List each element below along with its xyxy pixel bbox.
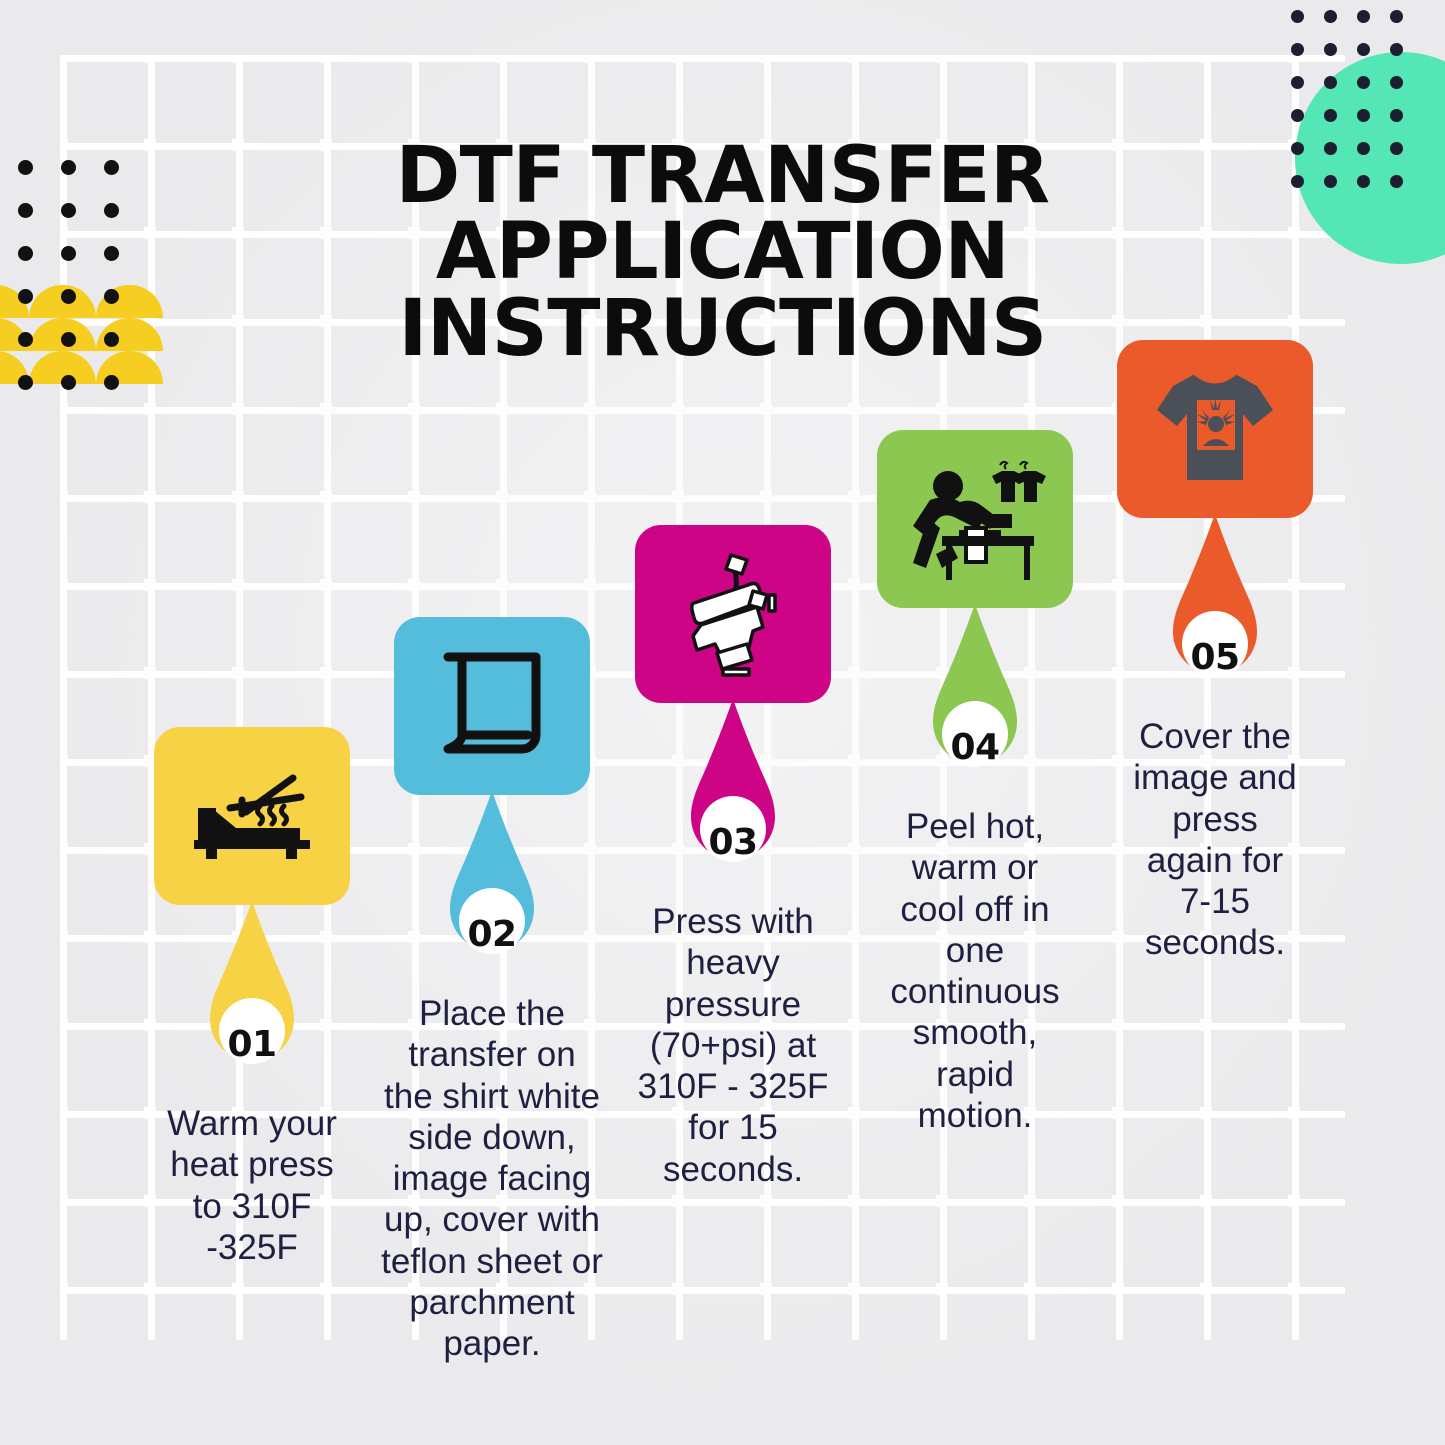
step-item-05[interactable]: 05 Cover the image and press again for 7… bbox=[1085, 340, 1345, 964]
step-item-03[interactable]: 03 Press with heavy pressure (70+psi) at… bbox=[603, 525, 863, 1190]
printed-tshirt-icon bbox=[1151, 368, 1279, 490]
infographic-canvas: DTF TRANSFER APPLICATION INSTRUCTIONS bbox=[0, 0, 1445, 1445]
page-title-line-1: DTF TRANSFER APPLICATION bbox=[395, 131, 1049, 297]
step-02-tile[interactable] bbox=[394, 617, 590, 795]
page-title: DTF TRANSFER APPLICATION INSTRUCTIONS bbox=[0, 138, 1445, 367]
step-03-tile[interactable] bbox=[635, 525, 831, 703]
step-02-caption: Place the transfer on the shirt white si… bbox=[367, 993, 617, 1365]
step-01-number: 01 bbox=[194, 1024, 310, 1065]
step-03-number-pin: 03 bbox=[675, 699, 791, 889]
step-04-caption: Peel hot, warm or cool off in one contin… bbox=[850, 806, 1100, 1136]
peeling-worker-icon bbox=[904, 456, 1046, 582]
heat-press-icon bbox=[190, 764, 314, 868]
step-03-caption: Press with heavy pressure (70+psi) at 31… bbox=[608, 901, 858, 1190]
step-item-02[interactable]: 02 Place the transfer on the shirt white… bbox=[362, 617, 622, 1365]
step-04-number: 04 bbox=[917, 727, 1033, 768]
step-01-caption: Warm your heat press to 310F -325F bbox=[127, 1103, 377, 1268]
heat-press-machine-icon bbox=[673, 551, 793, 677]
step-05-tile[interactable] bbox=[1117, 340, 1313, 518]
step-05-number-pin: 05 bbox=[1157, 514, 1273, 704]
step-05-number: 05 bbox=[1157, 637, 1273, 678]
step-01-number-pin: 01 bbox=[194, 901, 310, 1091]
step-item-01[interactable]: 01 Warm your heat press to 310F -325F bbox=[122, 727, 382, 1268]
step-item-04[interactable]: 04 Peel hot, warm or cool off in one con… bbox=[845, 430, 1105, 1136]
step-03-number: 03 bbox=[675, 822, 791, 863]
transfer-sheet-icon bbox=[438, 651, 546, 761]
step-01-tile[interactable] bbox=[154, 727, 350, 905]
step-02-number: 02 bbox=[434, 914, 550, 955]
step-05-caption: Cover the image and press again for 7-15… bbox=[1090, 716, 1340, 964]
step-04-number-pin: 04 bbox=[917, 604, 1033, 794]
step-02-number-pin: 02 bbox=[434, 791, 550, 981]
step-04-tile[interactable] bbox=[877, 430, 1073, 608]
